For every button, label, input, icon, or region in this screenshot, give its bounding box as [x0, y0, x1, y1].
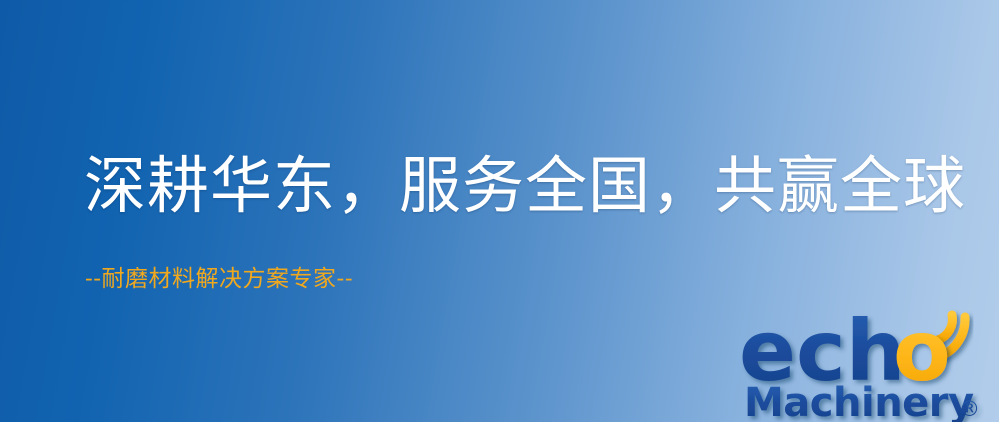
banner-subtitle: --耐磨材料解决方案专家--	[85, 266, 353, 294]
echo-machinery-logo: ech o Machinery ®	[741, 294, 999, 422]
wordmark-machinery: Machinery	[744, 380, 974, 422]
logo-artwork: ech o Machinery ®	[741, 294, 999, 422]
wordmark-machinery-group: Machinery ®	[744, 380, 980, 422]
page-title: 深耕华东，服务全国，共赢全球	[84, 153, 966, 218]
registered-trademark-icon: ®	[959, 397, 980, 421]
promo-banner: 深耕华东，服务全国，共赢全球 --耐磨材料解决方案专家--	[0, 0, 999, 422]
